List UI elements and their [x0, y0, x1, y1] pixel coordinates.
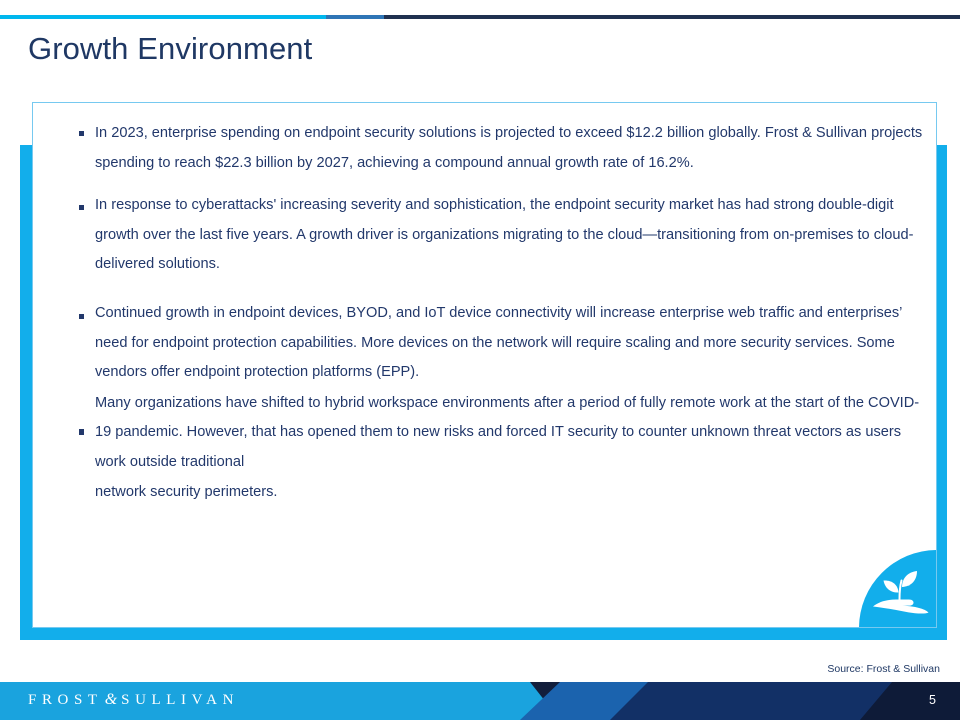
- accent-segment-navy: [384, 15, 960, 19]
- bullet-marker-icon: [79, 131, 84, 136]
- list-item: In response to cyberattacks' increasing …: [47, 191, 925, 280]
- list-item-text-part2: network security perimeters.: [95, 478, 925, 508]
- list-item: Continued growth in endpoint devices, BY…: [47, 299, 925, 388]
- source-note: Source: Frost & Sullivan: [827, 663, 940, 675]
- footer-bar: FROST&SULLIVAN 5: [0, 682, 960, 720]
- logo-word-sullivan: SULLIVAN: [121, 692, 239, 708]
- bullet-marker-icon: [79, 314, 84, 319]
- bullet-marker-icon: [79, 429, 84, 435]
- list-item-text: In response to cyberattacks' increasing …: [95, 191, 925, 280]
- bullet-marker-icon: [79, 205, 84, 210]
- slide: Growth Environment In 2023, enterprise s…: [0, 0, 960, 720]
- accent-segment-mid-blue: [326, 15, 384, 19]
- list-item-text: In 2023, enterprise spending on endpoint…: [95, 119, 925, 178]
- logo-ampersand: &: [103, 691, 121, 708]
- list-item: Many organizations have shifted to hybri…: [47, 389, 925, 507]
- accent-segment-cyan: [0, 15, 326, 19]
- frost-sullivan-logo: FROST&SULLIVAN: [28, 691, 239, 709]
- content-card: In 2023, enterprise spending on endpoint…: [32, 102, 937, 628]
- page-title: Growth Environment: [28, 29, 312, 69]
- hand-holding-plant-icon: [859, 550, 937, 628]
- list-item-text: Continued growth in endpoint devices, BY…: [95, 299, 925, 388]
- list-item: In 2023, enterprise spending on endpoint…: [47, 119, 925, 178]
- list-item-text-part1: Many organizations have shifted to hybri…: [95, 389, 925, 478]
- logo-word-frost: FROST: [28, 692, 103, 708]
- top-accent-rule: [0, 15, 960, 19]
- page-number: 5: [929, 693, 936, 707]
- bullet-list: In 2023, enterprise spending on endpoint…: [47, 119, 925, 507]
